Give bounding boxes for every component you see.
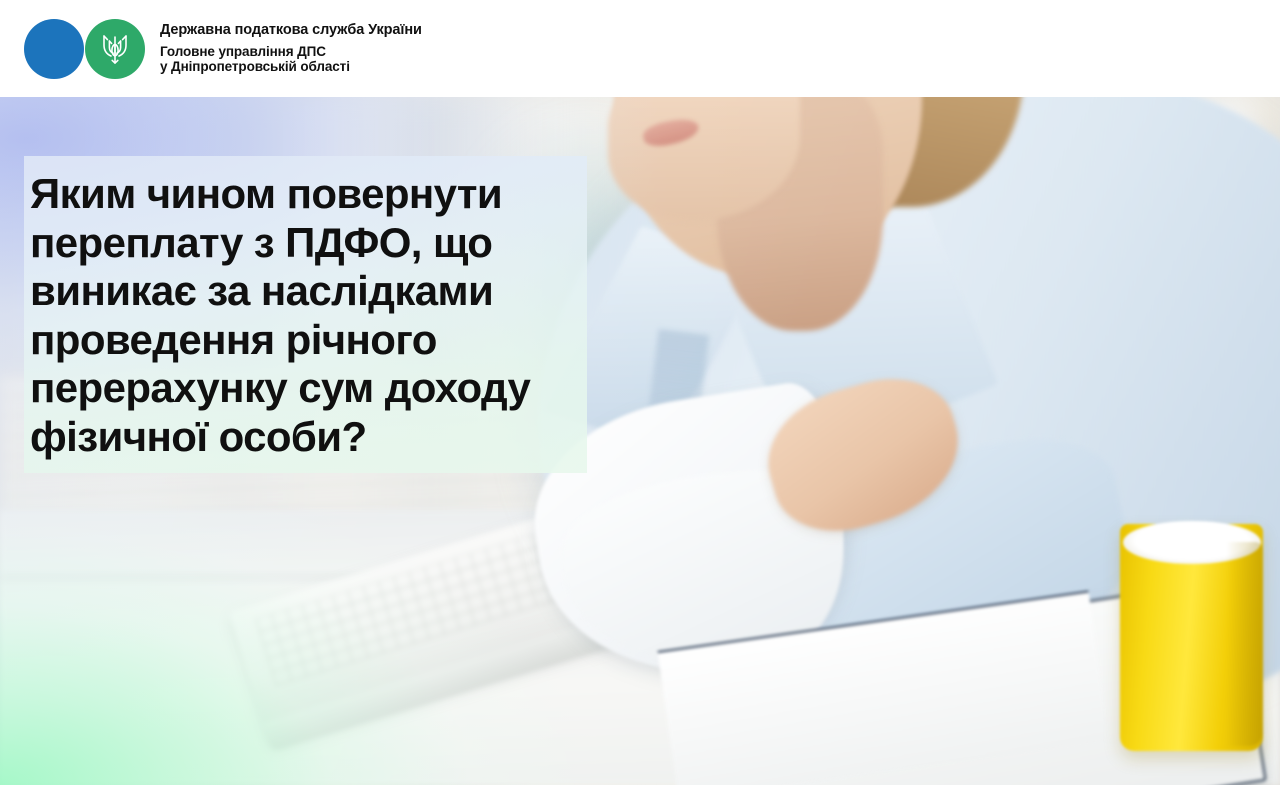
page-root: Державна податкова служба України Головн…: [0, 0, 1280, 785]
org-title-region: у Дніпропетровській області: [160, 60, 422, 74]
headline-line-5: перерахунку сум доходу: [30, 364, 581, 413]
headline-line-1: Яким чином повернути: [30, 170, 581, 219]
organization-logo[interactable]: [24, 19, 149, 79]
headline-line-6: фізичної особи?: [30, 413, 581, 462]
headline-line-4: проведення річного: [30, 316, 581, 365]
logo-blue-circle-icon: [24, 19, 84, 79]
headline-line-3: виникає за наслідками: [30, 267, 581, 316]
organization-name-block: Державна податкова служба України Головн…: [160, 23, 422, 74]
headline-panel: Яким чином повернути переплату з ПДФО, щ…: [24, 156, 587, 473]
site-header: Державна податкова служба України Головн…: [0, 0, 1280, 97]
hero-headline: Яким чином повернути переплату з ПДФО, щ…: [30, 170, 581, 461]
mug-shade: [1226, 542, 1263, 746]
headline-line-2: переплату з ПДФО, що: [30, 219, 581, 268]
ukraine-trident-icon: [85, 19, 145, 79]
org-title-primary: Державна податкова служба України: [160, 23, 422, 38]
org-title-department: Головне управління ДПС: [160, 45, 422, 59]
yellow-mug: [1120, 524, 1263, 751]
